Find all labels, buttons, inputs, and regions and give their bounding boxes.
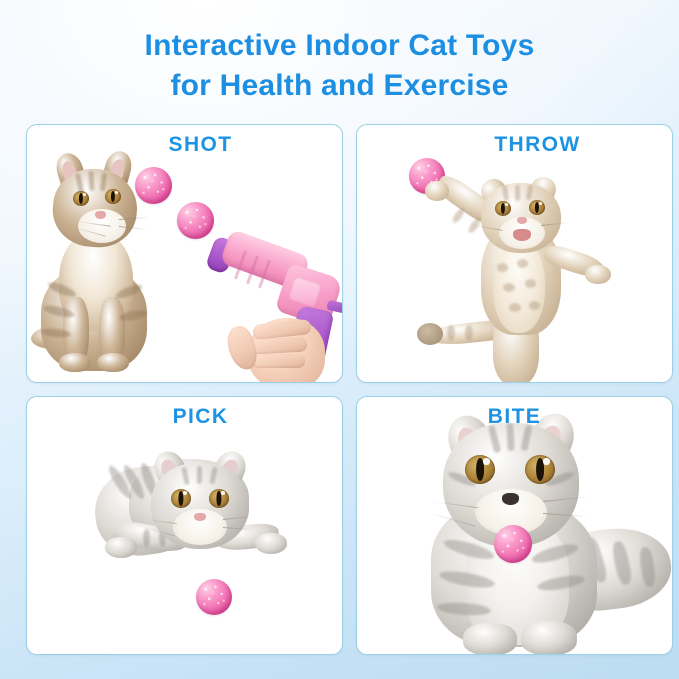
feature-card-shot[interactable]: SHOT xyxy=(26,124,343,383)
cat-stripe xyxy=(143,529,150,547)
scene-shot xyxy=(27,125,342,382)
cat-forehead-stripe xyxy=(88,171,94,191)
cat-stripe xyxy=(447,325,455,341)
cat-belly xyxy=(493,241,545,333)
cat-forehead-stripe xyxy=(515,185,520,201)
feature-card-grid: SHOT xyxy=(26,124,653,655)
pom-pom-ball xyxy=(196,579,232,615)
feature-card-throw[interactable]: THROW xyxy=(356,124,673,383)
cat-paw-right xyxy=(97,353,129,372)
hand-finger xyxy=(251,354,305,368)
cat-paw-left xyxy=(105,537,137,558)
infographic-poster: Interactive Indoor Cat Toys for Health a… xyxy=(0,0,679,679)
cat-eye-left xyxy=(495,201,511,216)
cat-standing xyxy=(419,155,609,383)
cat-spot xyxy=(517,259,528,268)
cat-crouching xyxy=(89,433,297,593)
page-title-line-2: for Health and Exercise xyxy=(0,66,679,106)
cat-eye-left xyxy=(171,489,191,508)
scene-bite xyxy=(357,397,672,654)
cat-nose xyxy=(502,493,519,505)
cat-eye-right xyxy=(525,455,555,484)
cat-eye-left xyxy=(465,455,495,484)
scene-pick xyxy=(27,397,342,654)
cat-paw-left xyxy=(463,623,517,655)
cat-paw-right xyxy=(255,533,287,554)
cat-paw-raised xyxy=(425,181,449,201)
cat-lying xyxy=(403,401,665,655)
cat-spot xyxy=(525,279,536,288)
cat-mouth xyxy=(513,229,531,241)
pom-pom-ball-in-mouth xyxy=(494,525,532,563)
cat-spot xyxy=(529,301,540,310)
cat-spot xyxy=(497,263,508,272)
cat-eye-left xyxy=(73,191,89,206)
toy-ball-launcher xyxy=(207,230,343,383)
cat-eye-right xyxy=(529,200,545,215)
cat-forehead-stripe xyxy=(506,423,514,451)
cat-eye-right xyxy=(209,489,229,508)
page-title-line-1: Interactive Indoor Cat Toys xyxy=(0,26,679,66)
cat-paw-right xyxy=(585,265,611,284)
scene-throw xyxy=(357,125,672,382)
feature-card-bite[interactable]: BITE xyxy=(356,396,673,655)
cat-stripe xyxy=(465,325,473,341)
cat-stripe xyxy=(451,207,466,225)
page-title: Interactive Indoor Cat Toys for Health a… xyxy=(0,26,679,105)
cat-nose xyxy=(95,211,106,219)
hand-finger xyxy=(251,337,308,355)
cat-nose xyxy=(194,513,206,521)
cat-spot xyxy=(503,283,515,292)
cat-paw-right xyxy=(521,621,577,655)
cat-tail-tip xyxy=(417,323,443,345)
cat-eye-right xyxy=(105,189,121,204)
cat-paw-left xyxy=(59,353,91,372)
feature-card-pick[interactable]: PICK xyxy=(26,396,343,655)
cat-nose xyxy=(517,217,527,224)
cat-forehead-stripe xyxy=(197,466,202,484)
cat-spot xyxy=(509,303,521,312)
pom-pom-ball xyxy=(135,167,172,204)
